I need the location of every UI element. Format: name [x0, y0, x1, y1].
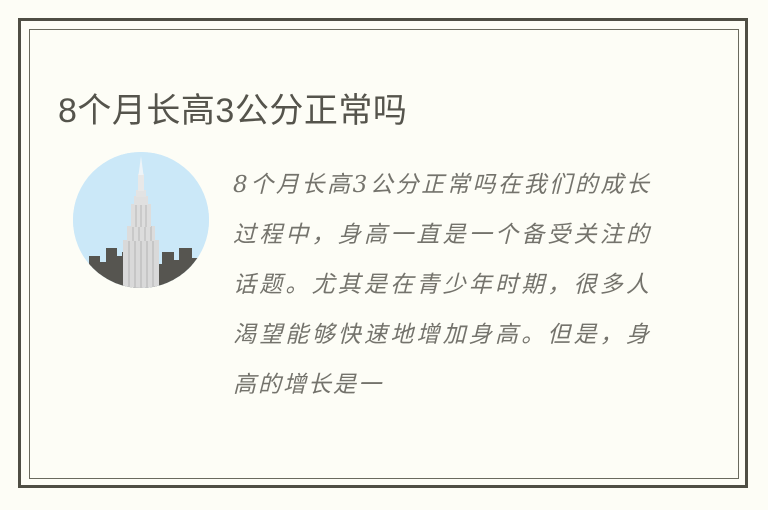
article-page: 8个月长高3公分正常吗 — [0, 0, 768, 510]
empire-state-building-icon — [73, 152, 209, 288]
article-body-text: 8个月长高3公分正常吗在我们的成长过程中，身高一直是一个备受关注的话题。尤其是在… — [233, 160, 651, 410]
page-title: 8个月长高3公分正常吗 — [58, 89, 407, 133]
page-content: 8个月长高3公分正常吗 — [0, 0, 768, 510]
article-thumbnail — [73, 152, 209, 288]
